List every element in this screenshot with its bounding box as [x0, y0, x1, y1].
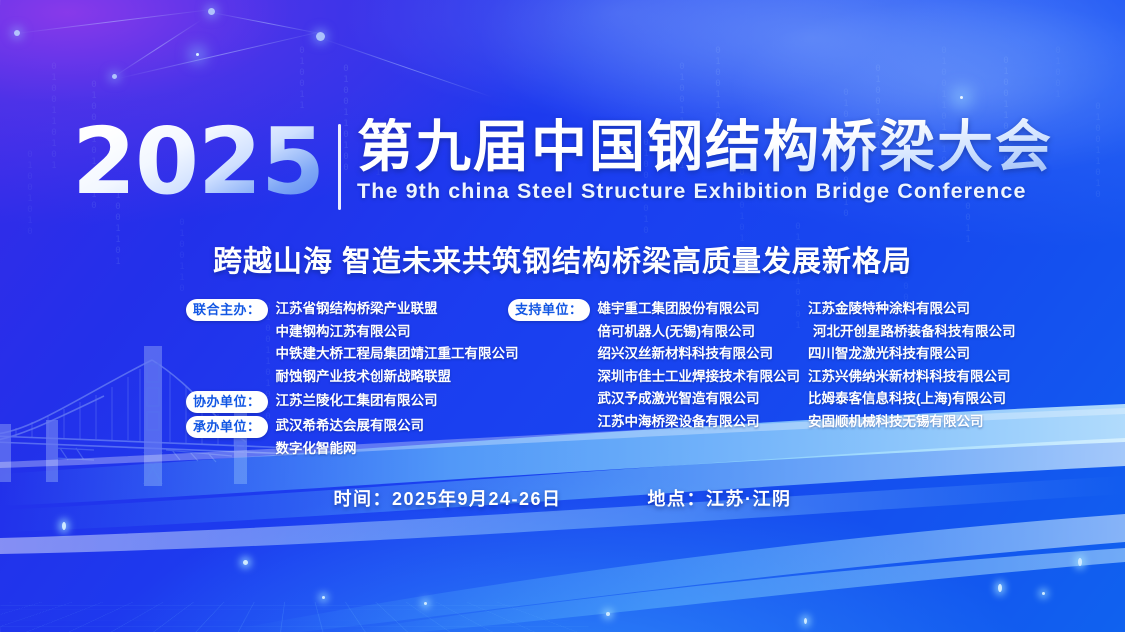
- badge-supporter: 支持单位：: [508, 299, 590, 321]
- network-node: [316, 32, 325, 41]
- list-item: 雄宇重工集团股份有限公司: [598, 298, 801, 321]
- event-date: 时间：2025年9月24-26日: [333, 485, 561, 511]
- badge-co-organizer: 协办单位：: [186, 391, 268, 413]
- sponsor-group: 支持单位： 雄宇重工集团股份有限公司 倍可机器人(无锡)有限公司 绍兴汉丝新材料…: [508, 298, 808, 433]
- list-item: 数字化智能网: [276, 438, 425, 461]
- list-item: 武汉予成激光智造有限公司: [598, 388, 801, 411]
- headline-block: 2025 第九届中国钢结构桥梁大会 The 9th china Steel St…: [0, 118, 1125, 210]
- badge-organizer: 承办单位：: [186, 416, 268, 438]
- sponsor-group: 协办单位： 江苏兰陵化工集团有限公司: [186, 390, 506, 413]
- conference-banner: 0100101001001101010100110100100100110101…: [0, 0, 1125, 632]
- sponsor-column-middle: 支持单位： 雄宇重工集团股份有限公司 倍可机器人(无锡)有限公司 绍兴汉丝新材料…: [508, 298, 808, 435]
- event-location: 地点：江苏·江阴: [648, 485, 792, 511]
- sponsor-list: 江苏金陵特种涂料有限公司 河北开创星路桥装备科技有限公司 四川智龙激光科技有限公…: [808, 298, 1108, 433]
- list-item: 耐蚀钢产业技术创新战略联盟: [276, 366, 519, 389]
- network-node: [208, 8, 215, 15]
- list-item: 江苏兰陵化工集团有限公司: [276, 390, 438, 413]
- list-item: 绍兴汉丝新材料科技有限公司: [598, 343, 801, 366]
- sponsor-group: 联合主办： 江苏省钢结构桥梁产业联盟 中建钢构江苏有限公司 中铁建大桥工程局集团…: [186, 298, 506, 388]
- light-burst-icon: [960, 96, 963, 99]
- sponsor-list: 江苏省钢结构桥梁产业联盟 中建钢构江苏有限公司 中铁建大桥工程局集团靖江重工有限…: [276, 298, 519, 388]
- list-item: 江苏兴佛纳米新材料科技有限公司: [808, 366, 1108, 389]
- list-item: 江苏中海桥梁设备有限公司: [598, 411, 801, 434]
- list-item: 江苏金陵特种涂料有限公司: [808, 298, 1108, 321]
- sponsor-column-left: 联合主办： 江苏省钢结构桥梁产业联盟 中建钢构江苏有限公司 中铁建大桥工程局集团…: [186, 298, 506, 462]
- list-item: 中建钢构江苏有限公司: [276, 321, 519, 344]
- sponsor-column-right: 江苏金陵特种涂料有限公司 河北开创星路桥装备科技有限公司 四川智龙激光科技有限公…: [808, 298, 1108, 433]
- sponsor-list: 雄宇重工集团股份有限公司 倍可机器人(无锡)有限公司 绍兴汉丝新材料科技有限公司…: [598, 298, 801, 433]
- network-link: [118, 29, 331, 79]
- list-item: 武汉希希达会展有限公司: [276, 415, 425, 438]
- list-item: 倍可机器人(无锡)有限公司: [598, 321, 801, 344]
- list-item: 中铁建大桥工程局集团靖江重工有限公司: [276, 343, 519, 366]
- network-link: [114, 19, 202, 76]
- event-details: 时间：2025年9月24-26日 地点：江苏·江阴: [0, 485, 1125, 511]
- network-node: [112, 74, 117, 79]
- sponsors-section: 联合主办： 江苏省钢结构桥梁产业联盟 中建钢构江苏有限公司 中铁建大桥工程局集团…: [0, 298, 1125, 448]
- year-text: 2025: [72, 118, 338, 206]
- list-item: 安固顺机械科技无锡有限公司: [808, 411, 1108, 434]
- list-item: 四川智龙激光科技有限公司: [808, 343, 1108, 366]
- list-item: 比姆泰客信息科技(上海)有限公司: [808, 388, 1108, 411]
- binary-column: 01001: [1052, 46, 1063, 101]
- list-item: 河北开创星路桥装备科技有限公司: [808, 321, 1108, 344]
- list-item: 江苏省钢结构桥梁产业联盟: [276, 298, 519, 321]
- conference-title-en: The 9th china Steel Structure Exhibition…: [357, 179, 1053, 204]
- network-link: [212, 12, 322, 34]
- binary-column: 010011: [296, 46, 307, 112]
- light-burst-secondary-icon: [196, 53, 199, 56]
- title-divider: [338, 124, 341, 210]
- network-link: [322, 38, 493, 98]
- sponsor-list: 武汉希希达会展有限公司 数字化智能网: [276, 415, 425, 460]
- list-item: 深圳市佳士工业焊接技术有限公司: [598, 366, 801, 389]
- conference-title-cn: 第九届中国钢结构桥梁大会: [357, 118, 1053, 175]
- sponsor-group: 承办单位： 武汉希希达会展有限公司 数字化智能网: [186, 415, 506, 460]
- network-link: [16, 9, 213, 34]
- sponsor-list: 江苏兰陵化工集团有限公司: [276, 390, 438, 413]
- badge-co-host: 联合主办：: [186, 299, 268, 321]
- network-node: [14, 30, 20, 36]
- conference-slogan: 跨越山海 智造未来共筑钢结构桥梁高质量发展新格局: [0, 238, 1125, 280]
